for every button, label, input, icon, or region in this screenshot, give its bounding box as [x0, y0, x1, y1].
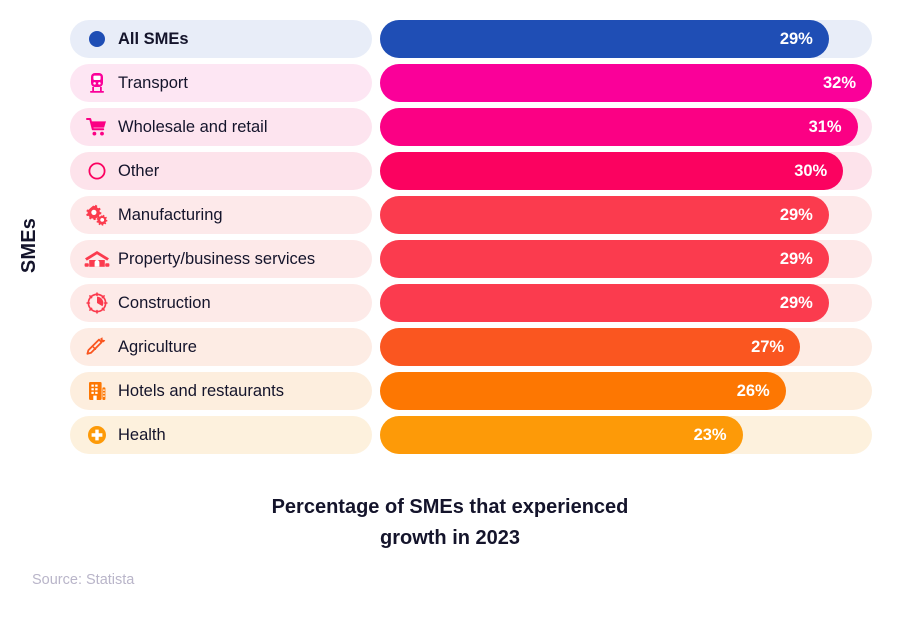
bar-fill[interactable]: 32% [380, 64, 872, 102]
bar-row-label: Property/business services [118, 250, 315, 269]
train-icon [84, 70, 110, 96]
bar-chart: SMEs All SMEs29%Transport32%Wholesale an… [0, 0, 900, 620]
bar-fill[interactable]: 29% [380, 196, 829, 234]
bar-row-label-panel: Transport [70, 64, 372, 102]
bar-row[interactable]: Agriculture27% [70, 328, 872, 366]
bar-row[interactable]: Other30% [70, 152, 872, 190]
bar-row[interactable]: Wholesale and retail31% [70, 108, 872, 146]
bar-row[interactable]: Property/business services29% [70, 240, 872, 278]
bar-row[interactable]: Construction29% [70, 284, 872, 322]
bar-row-label: Health [118, 426, 166, 445]
filled-circle-icon [84, 26, 110, 52]
bar-value-label: 29% [780, 30, 813, 49]
bar-value-label: 27% [751, 338, 784, 357]
bar-track: 31% [380, 108, 872, 146]
bar-row[interactable]: Hotels and restaurants26% [70, 372, 872, 410]
circle-outline-icon [84, 158, 110, 184]
bar-value-label: 29% [780, 206, 813, 225]
bar-track: 27% [380, 328, 872, 366]
bar-value-label: 23% [694, 426, 727, 445]
bar-track: 29% [380, 240, 872, 278]
bar-row-label-panel: Property/business services [70, 240, 372, 278]
bar-value-label: 32% [823, 74, 856, 93]
bar-value-label: 26% [737, 382, 770, 401]
bar-value-label: 29% [780, 294, 813, 313]
bar-fill[interactable]: 31% [380, 108, 858, 146]
bar-value-label: 29% [780, 250, 813, 269]
bar-row-label-panel: Manufacturing [70, 196, 372, 234]
bar-fill[interactable]: 30% [380, 152, 843, 190]
chart-title-line-2: growth in 2023 [0, 523, 900, 554]
bar-fill[interactable]: 26% [380, 372, 786, 410]
bar-row-label-panel: Other [70, 152, 372, 190]
bar-track: 23% [380, 416, 872, 454]
shopping-cart-icon [84, 114, 110, 140]
bar-row[interactable]: Health23% [70, 416, 872, 454]
bar-row-label: Agriculture [118, 338, 197, 357]
bar-fill[interactable]: 29% [380, 240, 829, 278]
bar-row-label: All SMEs [118, 30, 189, 49]
bar-row-label: Other [118, 162, 159, 181]
bar-row-label-panel: Hotels and restaurants [70, 372, 372, 410]
source-note: Source: Statista [32, 572, 134, 588]
bar-track: 29% [380, 20, 872, 58]
gears-icon [84, 202, 110, 228]
bar-track: 32% [380, 64, 872, 102]
bar-row-label: Hotels and restaurants [118, 382, 284, 401]
gear-cog-icon [84, 290, 110, 316]
bar-track: 29% [380, 196, 872, 234]
bar-rows: All SMEs29%Transport32%Wholesale and ret… [70, 20, 872, 460]
bar-value-label: 31% [809, 118, 842, 137]
chart-title-line-1: Percentage of SMEs that experienced [0, 492, 900, 523]
building-icon [84, 378, 110, 404]
y-axis-title: SMEs [0, 195, 60, 295]
medical-cross-icon [84, 422, 110, 448]
bar-fill[interactable]: 29% [380, 284, 829, 322]
bar-track: 29% [380, 284, 872, 322]
bar-row-label: Transport [118, 74, 188, 93]
house-icon [84, 246, 110, 272]
chart-title: Percentage of SMEs that experienced grow… [0, 492, 900, 554]
bar-row[interactable]: All SMEs29% [70, 20, 872, 58]
bar-track: 26% [380, 372, 872, 410]
bar-row-label: Manufacturing [118, 206, 223, 225]
bar-row-label-panel: Wholesale and retail [70, 108, 372, 146]
bar-fill[interactable]: 27% [380, 328, 800, 366]
y-axis-title-text: SMEs [18, 217, 41, 272]
bar-row-label-panel: Health [70, 416, 372, 454]
bar-row-label-panel: All SMEs [70, 20, 372, 58]
bar-row-label-panel: Construction [70, 284, 372, 322]
bar-fill[interactable]: 23% [380, 416, 743, 454]
carrot-icon [84, 334, 110, 360]
bar-row[interactable]: Transport32% [70, 64, 872, 102]
bar-row-label-panel: Agriculture [70, 328, 372, 366]
bar-row-label: Construction [118, 294, 211, 313]
bar-track: 30% [380, 152, 872, 190]
bar-fill[interactable]: 29% [380, 20, 829, 58]
bar-value-label: 30% [794, 162, 827, 181]
bar-row[interactable]: Manufacturing29% [70, 196, 872, 234]
bar-row-label: Wholesale and retail [118, 118, 268, 137]
